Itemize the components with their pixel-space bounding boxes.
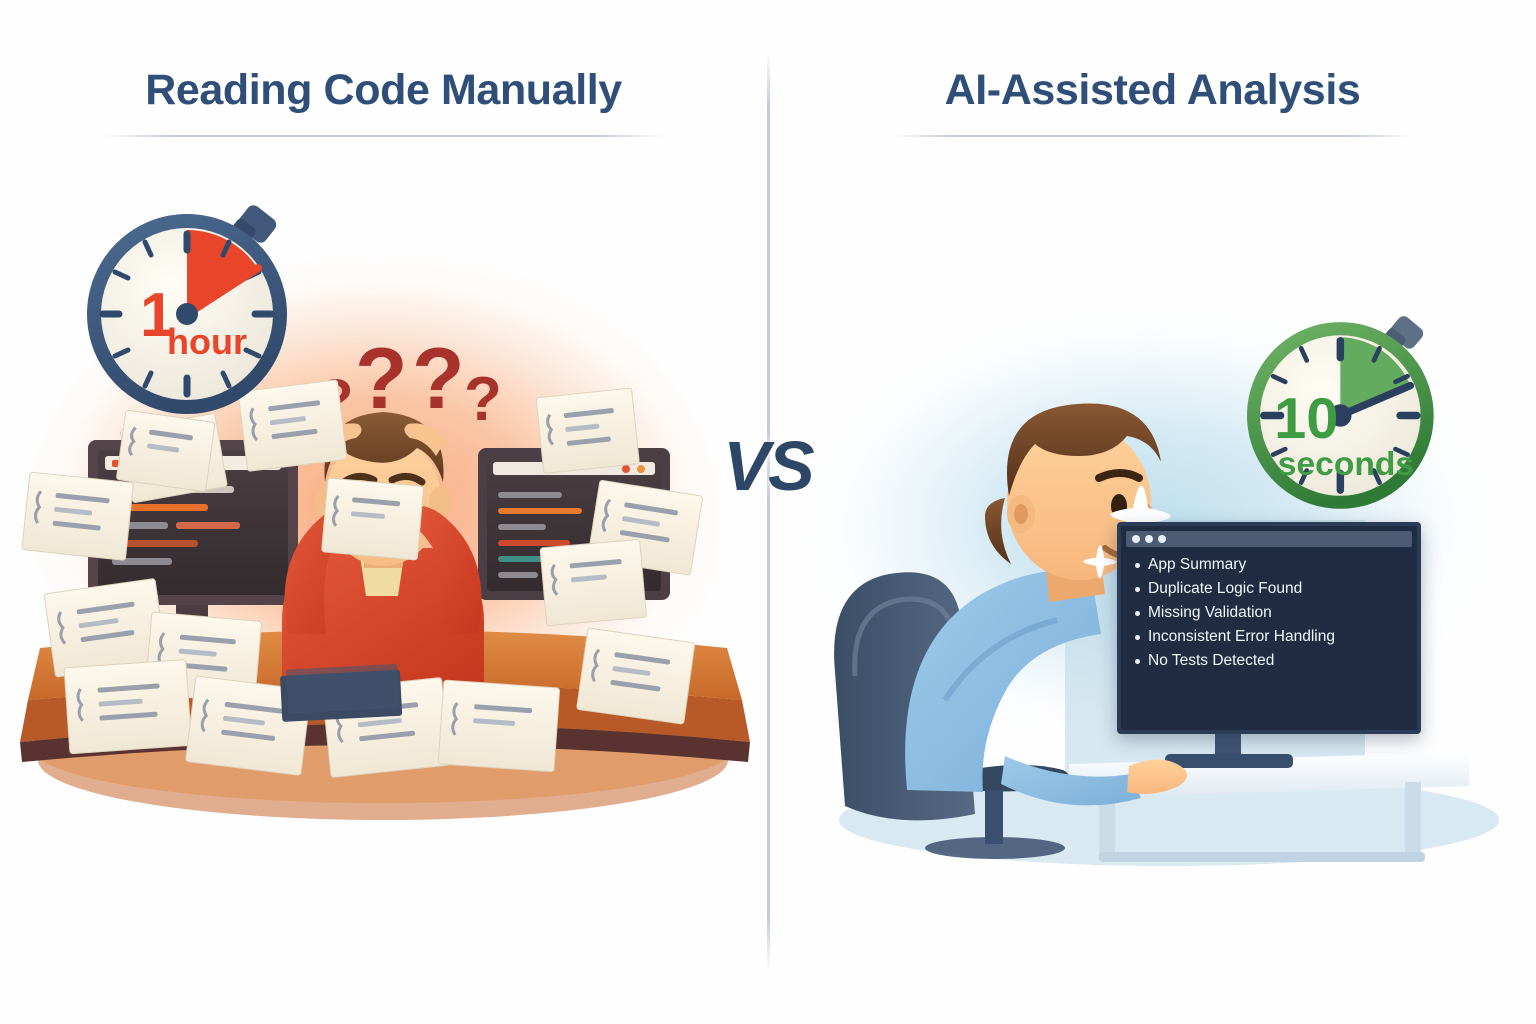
svg-text:?: ? [464, 365, 502, 434]
ai-finding-label: App Summary [1148, 556, 1246, 574]
bullet-icon [1135, 659, 1140, 664]
panel-ai: AI-Assisted Analysis [769, 0, 1536, 1024]
ai-finding-label: No Tests Detected [1148, 652, 1274, 670]
ai-finding-item: Missing Validation [1135, 604, 1417, 622]
panel-divider [767, 52, 770, 972]
ai-finding-label: Inconsistent Error Handling [1148, 628, 1335, 646]
window-dot-maximize-icon[interactable] [1158, 535, 1166, 543]
window-dot-close-icon[interactable] [1132, 535, 1140, 543]
stopwatch-ten-seconds: 10 seconds [1233, 296, 1457, 520]
bullet-icon [1135, 563, 1140, 568]
ai-findings-list: App SummaryDuplicate Logic FoundMissing … [1121, 556, 1417, 670]
ai-finding-label: Duplicate Logic Found [1148, 580, 1302, 598]
ai-report-monitor: App SummaryDuplicate Logic FoundMissing … [1117, 522, 1421, 734]
ai-finding-label: Missing Validation [1148, 604, 1272, 622]
panel-manual: Reading Code Manually [0, 0, 767, 1024]
ai-finding-item: No Tests Detected [1135, 652, 1417, 670]
report-window-titlebar [1126, 531, 1412, 547]
bullet-icon [1135, 635, 1140, 640]
bullet-icon [1135, 611, 1140, 616]
ai-finding-item: App Summary [1135, 556, 1417, 574]
left-illustration: ? ? ? ? [0, 0, 767, 1024]
window-dot-minimize-icon[interactable] [1145, 535, 1153, 543]
comparison-infographic: Reading Code Manually [0, 0, 1536, 1024]
stopwatch-right-value: 10 [1274, 387, 1338, 451]
svg-text:?: ? [412, 331, 465, 427]
stopwatch-one-hour: 1 hour [72, 186, 312, 426]
ai-finding-item: Duplicate Logic Found [1135, 580, 1417, 598]
ai-finding-item: Inconsistent Error Handling [1135, 628, 1417, 646]
vs-badge: VS [723, 426, 812, 506]
stopwatch-right-unit: seconds [1278, 446, 1414, 483]
stopwatch-left-unit: hour [167, 321, 247, 362]
bullet-icon [1135, 587, 1140, 592]
